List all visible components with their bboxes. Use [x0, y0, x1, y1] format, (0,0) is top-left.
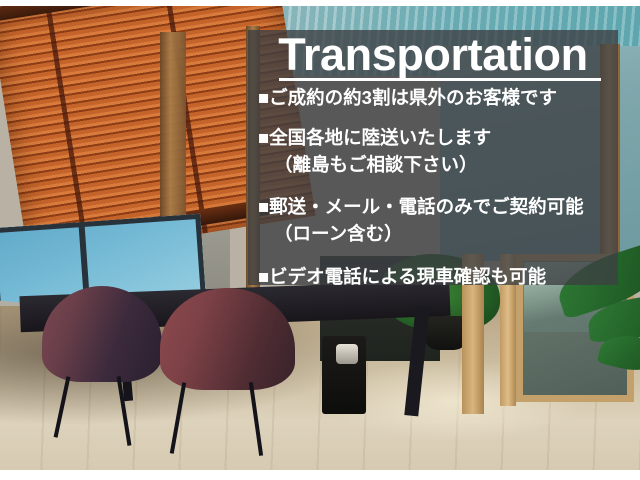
top-letterbox-band: [0, 0, 640, 6]
pedestal-model-car: [336, 344, 358, 364]
bullet-item-1: ■ご成約の約3割は県外のお客様です: [258, 89, 618, 108]
bullet-item-2-sub: （離島もご相談下さい）: [258, 156, 618, 175]
bullet-item-2: ■全国各地に陸送いたします: [258, 129, 618, 148]
text-overlay-panel: Transportation ■ご成約の約3割は県外のお客様です ■全国各地に陸…: [248, 30, 618, 285]
bullet-item-3-sub: （ローン含む）: [258, 225, 618, 244]
bottom-letterbox-band: [0, 470, 640, 480]
promotional-image: Transportation ■ご成約の約3割は県外のお客様です ■全国各地に陸…: [0, 0, 640, 480]
bullet-item-3: ■郵送・メール・電話のみでご契約可能: [258, 198, 618, 217]
title-underline-rule: [279, 78, 601, 81]
bullet-item-4: ■ビデオ電話による現車確認も可能: [258, 268, 618, 287]
overlay-title: Transportation: [248, 31, 618, 80]
bullet-list: ■ご成約の約3割は県外のお客様です ■全国各地に陸送いたします （離島もご相談下…: [258, 84, 618, 286]
